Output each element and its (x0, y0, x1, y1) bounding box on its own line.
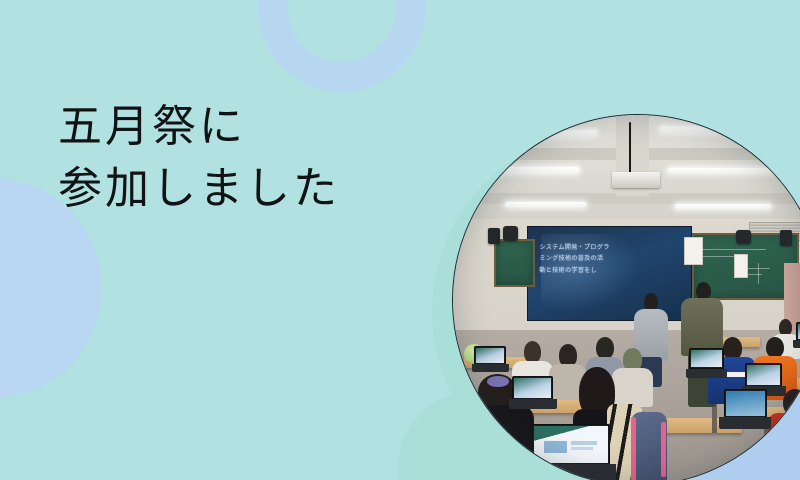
laptop (472, 346, 509, 372)
laptop-base (472, 364, 509, 372)
wall-notice (734, 254, 748, 278)
person-head (524, 341, 542, 363)
laptop-base (509, 399, 557, 409)
wall-speaker (736, 230, 751, 245)
laptop (719, 389, 771, 430)
laptop-base (719, 417, 771, 429)
person-torso (460, 405, 534, 480)
person-head (596, 337, 614, 359)
screen-text-block (571, 441, 597, 445)
laptop-lid (474, 346, 505, 365)
laptop-screen (691, 350, 721, 367)
banner-card: 五月祭に 参加しました システム開発・プログ (0, 0, 800, 480)
fluorescent-light (505, 202, 586, 208)
banner-title: 五月祭に 参加しました (58, 96, 340, 221)
wall-speaker (503, 226, 519, 241)
laptop-base (793, 340, 800, 348)
laptop (509, 376, 557, 409)
laptop (793, 322, 800, 348)
laptop-lid (745, 363, 782, 387)
laptop-lid (532, 424, 610, 465)
wall-speaker (488, 228, 500, 245)
hair-scrunchie (487, 376, 509, 387)
classroom-photo-scene: システム開発・プログラ ミング技術の普及の活 動と技術の学習をし (453, 115, 800, 480)
laptop (686, 348, 727, 378)
laptop-base (686, 369, 727, 378)
screen-line-1: システム開発・プログラ (539, 242, 682, 253)
laptop (527, 424, 616, 480)
chalk-writing (758, 263, 759, 284)
fluorescent-light (668, 168, 779, 174)
laptop-lid (724, 389, 768, 418)
chalk-writing (702, 249, 766, 250)
backpack-strap (631, 417, 636, 480)
fluorescent-light (675, 204, 771, 210)
laptop-screen (476, 348, 503, 363)
screen-text-block (571, 447, 592, 450)
laptop-lid (512, 376, 552, 400)
screen-line-2: ミング技術の普及の活 (539, 253, 682, 264)
laptop-lid (796, 322, 800, 341)
seated-person (768, 389, 800, 470)
laptop-lid (689, 348, 723, 369)
wall-notice (684, 237, 702, 265)
projector-mount (629, 122, 631, 174)
laptop-screen (726, 391, 766, 416)
projection-screen-text: システム開発・プログラ ミング技術の普及の活 動と技術の学習をし (539, 242, 682, 276)
laptop-base (527, 464, 616, 480)
screen-thumbnail (544, 441, 567, 453)
laptop-screen (514, 378, 550, 398)
classroom-photo: システム開発・プログラ ミング技術の普及の活 動と技術の学習をし (452, 114, 800, 480)
person-head (559, 344, 577, 366)
person-torso (768, 413, 800, 470)
wall-speaker (780, 230, 791, 247)
screen-line-3: 動と技術の学習をし (539, 265, 682, 276)
laptop-screen (747, 365, 780, 385)
ceiling-projector (612, 172, 660, 188)
backpack-strap (661, 422, 666, 477)
fluorescent-light (483, 167, 579, 173)
blackboard-left (494, 239, 535, 287)
